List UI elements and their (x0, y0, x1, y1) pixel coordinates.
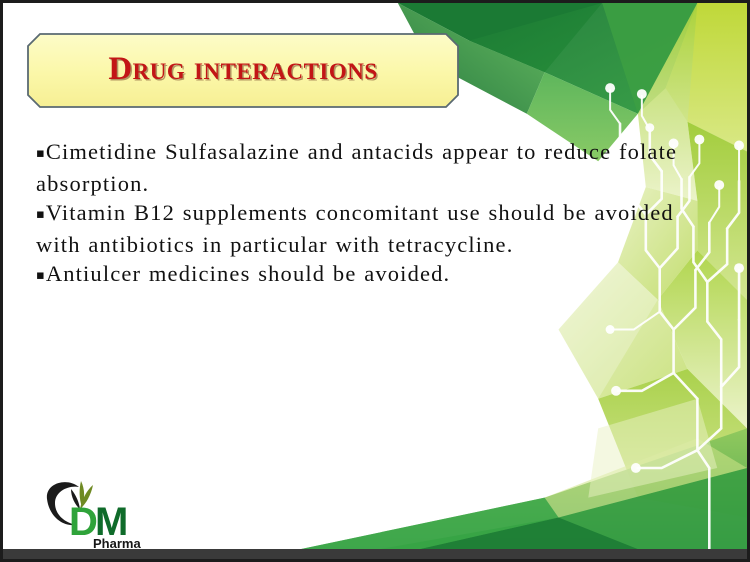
square-bullet-icon: ▪ (36, 268, 45, 283)
bottom-bar (3, 549, 747, 559)
dm-pharma-logo: D M Pharma (41, 477, 161, 551)
left-edge-strip (3, 3, 8, 559)
title-plaque: Drug interactions (27, 33, 459, 108)
page-title: Drug interactions (27, 33, 459, 108)
slide-canvas: Drug interactions ▪Cimetidine Sulfasalaz… (0, 0, 750, 562)
logo-graphic: D M Pharma (41, 477, 161, 551)
bullet-paragraph-2: ▪Vitamin B12 supplements concomitant use… (36, 198, 696, 259)
bullet-text-2: Vitamin B12 supplements concomitant use … (36, 200, 674, 257)
body-text-block: ▪Cimetidine Sulfasalazine and antacids a… (36, 137, 696, 291)
square-bullet-icon: ▪ (36, 207, 45, 222)
bullet-paragraph-3: ▪Antiulcer medicines should be avoided. (36, 259, 696, 291)
bullet-text-1: Cimetidine Sulfasalazine and antacids ap… (36, 139, 677, 196)
bullet-text-3: Antiulcer medicines should be avoided. (46, 261, 450, 286)
square-bullet-icon: ▪ (36, 146, 45, 161)
bullet-paragraph-1: ▪Cimetidine Sulfasalazine and antacids a… (36, 137, 696, 198)
